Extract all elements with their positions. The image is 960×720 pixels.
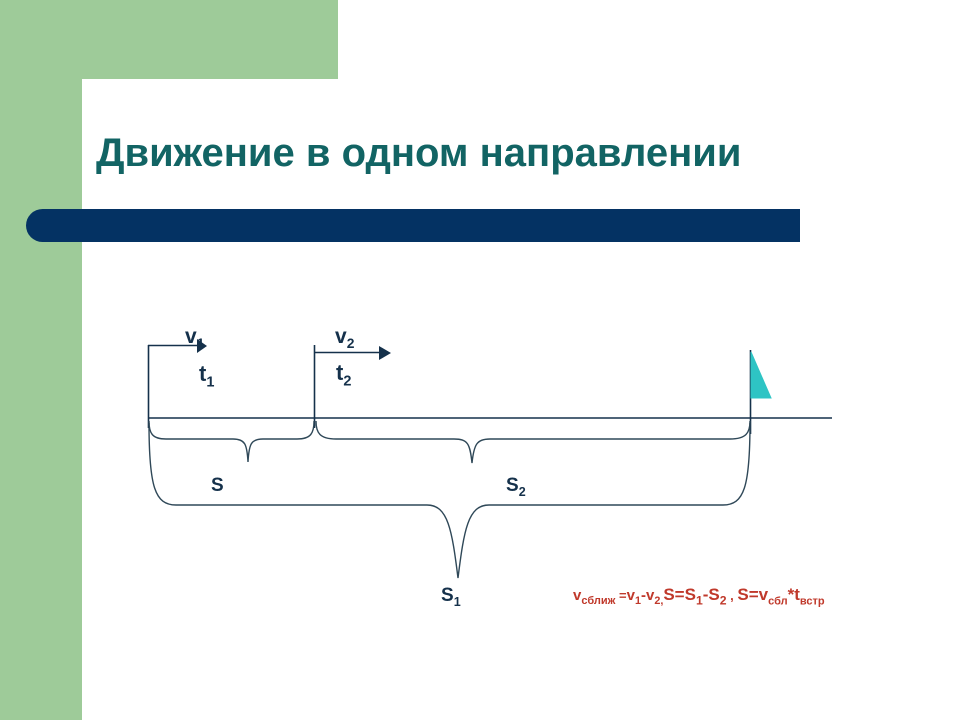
formula-s-eq-s1-s2: S=S1-S2 bbox=[663, 585, 726, 604]
formula-comma-2: , bbox=[727, 588, 738, 603]
velocity-arrow-2-head bbox=[379, 346, 391, 360]
formula-v2: v2, bbox=[646, 587, 663, 604]
finish-flag-icon bbox=[751, 352, 771, 398]
brace-segment-s bbox=[149, 421, 314, 462]
label-v1: v1 bbox=[185, 325, 204, 351]
label-t2: t2 bbox=[336, 360, 351, 389]
label-s1: S1 bbox=[441, 585, 461, 609]
brace-total-s1 bbox=[149, 423, 750, 578]
label-v2: v2 bbox=[335, 325, 354, 351]
label-t1: t1 bbox=[199, 361, 214, 390]
label-s2: S2 bbox=[506, 475, 526, 499]
formula-s-eq-vsbl-tvstr: S=vсбл*tвстр bbox=[737, 585, 824, 604]
formula-v-sblizh: vсближ bbox=[573, 587, 615, 604]
slide-canvas: Движение в одном направлении v1 t1 v2 t2… bbox=[0, 0, 960, 720]
label-s: S bbox=[211, 475, 224, 497]
formula-equals-1: = bbox=[615, 588, 626, 603]
formula-text: vсближ =v1-v2,S=S1-S2 , S=vсбл*tвстр bbox=[573, 585, 825, 607]
brace-segment-s2 bbox=[316, 421, 750, 463]
formula-v1: v1 bbox=[627, 587, 641, 604]
motion-diagram bbox=[0, 0, 960, 720]
